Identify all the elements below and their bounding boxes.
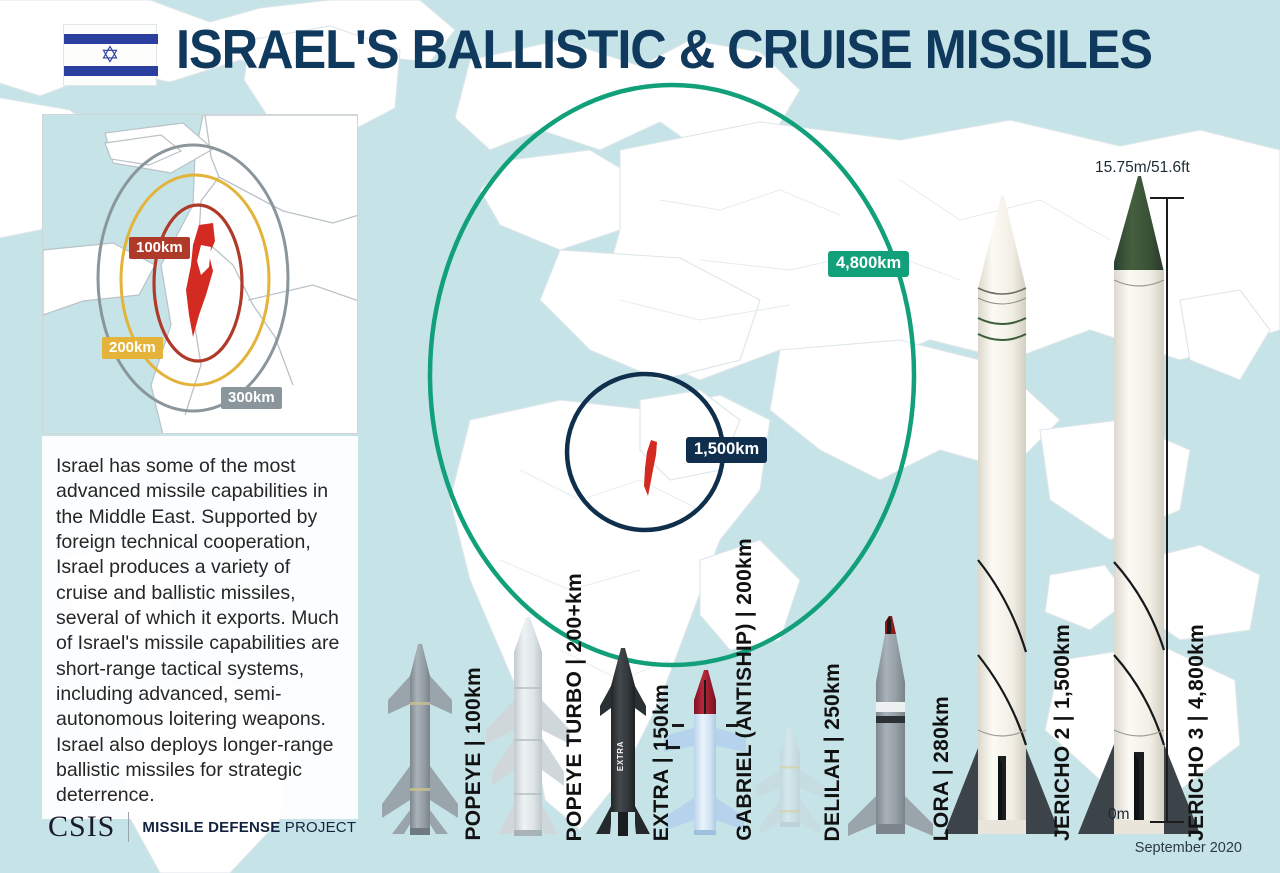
missile-delilah bbox=[756, 728, 824, 834]
logo-divider bbox=[128, 812, 129, 842]
israel-range-inset-map: 100km 200km 300km bbox=[42, 114, 358, 434]
range-label-4800km: 4,800km bbox=[828, 251, 909, 277]
scale-label-top: 15.75m/51.6ft bbox=[1095, 159, 1190, 177]
flag-stripe-bottom bbox=[64, 66, 158, 76]
missile-label-popeye: POPEYE | 100km bbox=[462, 667, 486, 841]
header: ✡ ISRAEL'S BALLISTIC & CRUISE MISSILES bbox=[0, 0, 1280, 98]
missile-label-delilah: DELILAH | 250km bbox=[821, 663, 845, 841]
range-label-1500km: 1,500km bbox=[686, 437, 767, 463]
csis-wordmark: CSIS bbox=[48, 810, 115, 844]
scale-tick-top bbox=[1150, 197, 1184, 199]
project-name: MISSILE DEFENSE PROJECT bbox=[142, 819, 356, 836]
scale-axis-line bbox=[1166, 197, 1168, 822]
csis-logo: CSIS MISSILE DEFENSE PROJECT bbox=[48, 810, 356, 844]
page-title: ISRAEL'S BALLISTIC & CRUISE MISSILES bbox=[176, 17, 1152, 81]
missile-popeye-turbo bbox=[486, 617, 570, 836]
project-name-light: PROJECT bbox=[280, 819, 356, 836]
inset-label-200km: 200km bbox=[102, 337, 163, 359]
scale-label-bottom: 0m bbox=[1108, 806, 1130, 824]
extra-body-text: EXTRA bbox=[616, 741, 625, 771]
missile-lora bbox=[848, 616, 933, 836]
inset-label-100km: 100km bbox=[129, 237, 190, 259]
missile-jericho-2 bbox=[944, 196, 1060, 834]
missile-extra: EXTRA bbox=[596, 648, 650, 836]
project-name-bold: MISSILE DEFENSE bbox=[142, 819, 280, 836]
scale-tick-bottom bbox=[1150, 821, 1184, 823]
height-scale-axis: 15.75m/51.6ft 0m bbox=[1100, 0, 1280, 873]
missile-label-popeye-turbo: POPEYE TURBO | 200+km bbox=[563, 573, 587, 841]
missile-label-extra: EXTRA | 150km bbox=[650, 684, 674, 841]
missile-label-gabriel: GABRIEL (ANTISHIP) | 200km bbox=[733, 538, 757, 841]
missile-label-jericho-2: JERICHO 2 | 1,500km bbox=[1051, 624, 1075, 841]
infographic-root: 4,800km 1,500km ✡ ISRAEL'S BALLISTIC & C… bbox=[0, 0, 1280, 873]
israel-flag-icon: ✡ bbox=[63, 24, 157, 86]
left-panel: 100km 200km 300km Israel has some of the… bbox=[42, 114, 358, 840]
description-text: Israel has some of the most advanced mis… bbox=[56, 454, 342, 809]
description-box: Israel has some of the most advanced mis… bbox=[42, 436, 358, 819]
inset-map-svg bbox=[43, 115, 358, 434]
publication-date: September 2020 bbox=[1135, 840, 1242, 856]
star-of-david-icon: ✡ bbox=[100, 44, 119, 67]
missile-label-lora: LORA | 280km bbox=[930, 696, 954, 841]
missile-popeye bbox=[382, 644, 458, 835]
inset-label-300km: 300km bbox=[221, 387, 282, 409]
